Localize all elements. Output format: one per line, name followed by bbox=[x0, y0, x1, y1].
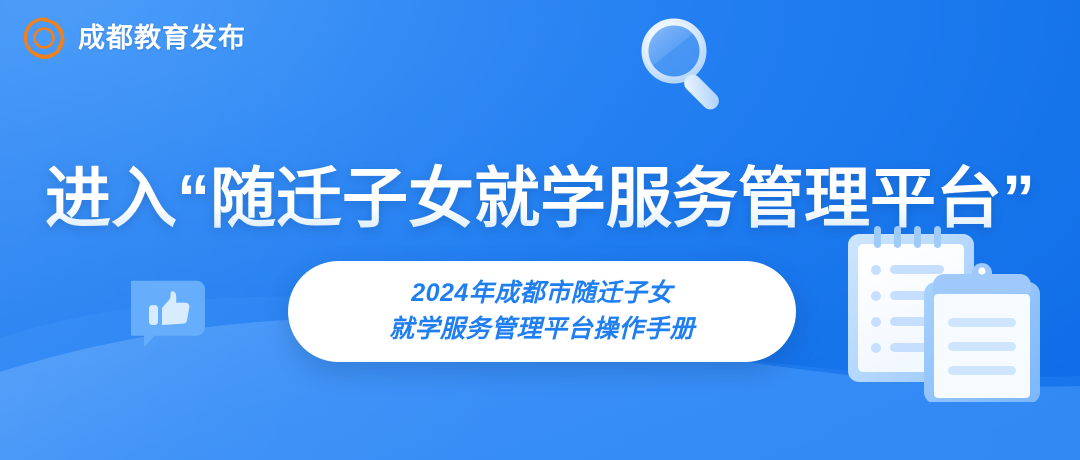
brand-logo-text: 成都教育发布 bbox=[78, 25, 246, 52]
subtitle-line-2: 就学服务管理平台操作手册 bbox=[389, 312, 695, 348]
notepad-and-clipboard-icon bbox=[836, 222, 1068, 402]
subtitle-pill[interactable]: 2024年成都市随迁子女 就学服务管理平台操作手册 bbox=[288, 261, 796, 362]
clipboard-shape bbox=[924, 263, 1040, 402]
thumbs-up-speech-bubble-icon bbox=[131, 277, 209, 355]
subtitle-line-1: 2024年成都市随迁子女 bbox=[411, 276, 673, 312]
swirl-circle-logo-icon bbox=[22, 16, 66, 60]
magnifying-glass-icon bbox=[630, 14, 740, 114]
brand-logo: 成都教育发布 bbox=[22, 16, 246, 60]
banner-hero: 成都教育发布 进入“随迁子女就学服务管理平台” bbox=[0, 0, 1080, 460]
